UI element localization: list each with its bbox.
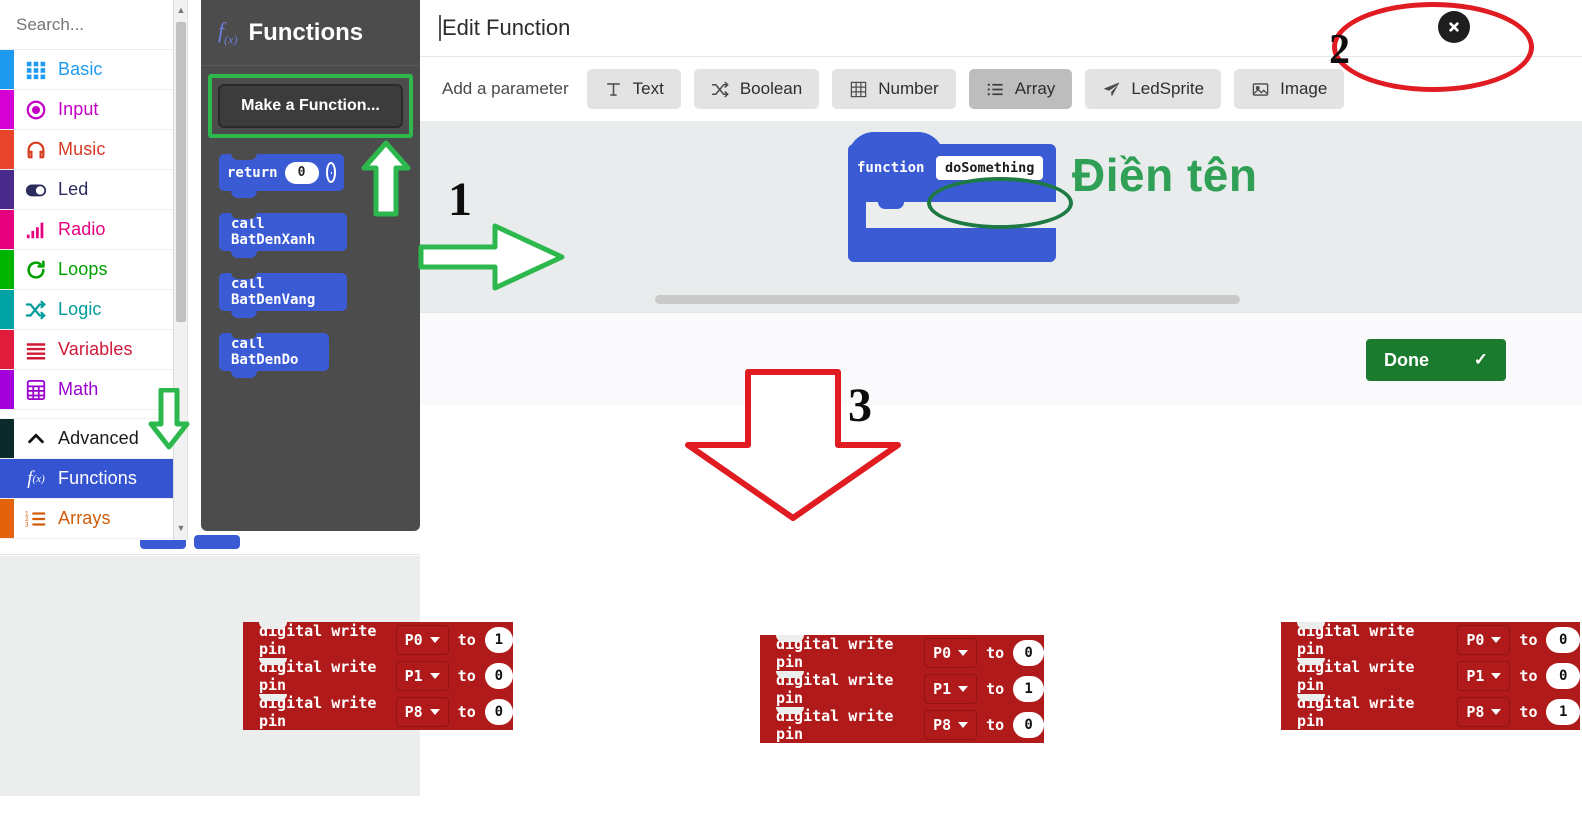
toggle-icon xyxy=(25,179,47,201)
value-field[interactable]: 0 xyxy=(1546,663,1580,689)
pin-dropdown-value: P1 xyxy=(405,667,423,685)
return-block-label: return xyxy=(227,165,278,181)
digital-write-pin-block[interactable]: digital write pinP0to0 xyxy=(1281,622,1580,658)
param-button-image[interactable]: Image xyxy=(1234,69,1344,109)
value-field[interactable]: 0 xyxy=(1013,712,1044,738)
digital-write-pin-block[interactable]: digital write pinP8to0 xyxy=(243,694,513,730)
sidebar-item-loops[interactable]: Loops xyxy=(0,250,187,290)
flyout-title: Functions xyxy=(248,19,363,47)
sidebar-item-label-advanced: Advanced xyxy=(58,428,139,449)
digital-write-pin-block[interactable]: digital write pinP1to1 xyxy=(760,671,1044,707)
param-button-label: Array xyxy=(1015,79,1056,99)
sidebar-item-label-basic: Basic xyxy=(58,59,103,80)
param-button-array[interactable]: Array xyxy=(969,69,1073,109)
sidebar-item-math[interactable]: Math xyxy=(0,370,187,410)
value-field[interactable]: 0 xyxy=(1546,627,1580,653)
statement-label: digital write pin xyxy=(1297,658,1448,694)
pin-dropdown[interactable]: P0 xyxy=(396,625,449,655)
calculator-icon xyxy=(25,379,47,401)
to-label: to xyxy=(1519,703,1537,721)
chevron-down-icon xyxy=(958,722,968,728)
toolbox-divider xyxy=(0,410,187,419)
digital-write-pin-block[interactable]: digital write pinP1to0 xyxy=(1281,658,1580,694)
list-icon xyxy=(986,80,1005,99)
annotation-ellipse-done xyxy=(1332,2,1534,92)
numbered-list-icon: 1 2 3 xyxy=(25,508,47,530)
category-color-swatch xyxy=(0,370,14,409)
statement-label: digital write pin xyxy=(259,658,387,694)
add-parameter-label: Add a parameter xyxy=(442,79,569,99)
sidebar-item-label-led: Led xyxy=(58,179,88,200)
flyout-header: f(x) Functions xyxy=(201,0,420,66)
category-color-swatch xyxy=(0,130,14,169)
done-button-label: Done xyxy=(1384,350,1429,371)
statement-label: digital write pin xyxy=(259,622,387,658)
chevron-down-icon xyxy=(1491,637,1501,643)
value-field[interactable]: 0 xyxy=(1013,640,1044,666)
toolbox-sidebar: BasicInputMusicLedRadioLoopsLogicVariabl… xyxy=(0,0,188,540)
pin-dropdown-value: P8 xyxy=(933,716,951,734)
return-block[interactable]: return 0 xyxy=(219,154,344,191)
chevron-up-icon xyxy=(25,428,47,450)
fx-icon: f(x) xyxy=(218,18,237,47)
pin-dropdown[interactable]: P1 xyxy=(396,661,449,691)
chevron-down-icon xyxy=(958,686,968,692)
svg-text:3: 3 xyxy=(25,521,29,528)
parameter-buttons: TextBooleanNumberArrayLedSpriteImage xyxy=(587,69,1345,109)
picture-icon xyxy=(1251,80,1270,99)
digital-write-pin-block[interactable]: digital write pinP0to1 xyxy=(243,622,513,658)
refresh-icon xyxy=(25,259,47,281)
pin-dropdown[interactable]: P8 xyxy=(924,710,977,740)
to-label: to xyxy=(986,680,1004,698)
done-button[interactable]: Done ✓ xyxy=(1366,339,1506,381)
to-label: to xyxy=(458,667,476,685)
chevron-down-icon xyxy=(958,650,968,656)
block-footer xyxy=(848,228,1056,262)
sidebar-item-led[interactable]: Led xyxy=(0,170,187,210)
param-button-label: Number xyxy=(878,79,938,99)
sidebar-item-radio[interactable]: Radio xyxy=(0,210,187,250)
grid-table-icon xyxy=(849,80,868,99)
param-button-label: LedSprite xyxy=(1131,79,1204,99)
sidebar-item-music[interactable]: Music xyxy=(0,130,187,170)
param-button-label: Text xyxy=(633,79,664,99)
param-button-label: Boolean xyxy=(740,79,802,99)
chevron-down-icon xyxy=(430,709,440,715)
check-icon: ✓ xyxy=(1474,350,1488,370)
sidebar-item-label-functions: Functions xyxy=(58,468,137,489)
dialog-footer: Done ✓ xyxy=(420,312,1582,405)
pin-dropdown-value: P0 xyxy=(405,631,423,649)
target-icon xyxy=(25,99,47,121)
sidebar-item-label-radio: Radio xyxy=(58,219,106,240)
category-color-swatch xyxy=(0,210,14,249)
pin-dropdown-value: P0 xyxy=(933,644,951,662)
fx-icon: f(x) xyxy=(25,468,47,490)
app-root: BasicInputMusicLedRadioLoopsLogicVariabl… xyxy=(0,0,1582,836)
sidebar-item-label-math: Math xyxy=(58,379,98,400)
category-color-swatch xyxy=(0,170,14,209)
sidebar-item-label-variables: Variables xyxy=(58,339,133,360)
toolbox-bottom-buttons xyxy=(0,541,440,555)
param-button-ledsprite[interactable]: LedSprite xyxy=(1085,69,1221,109)
statement-label: digital write pin xyxy=(1297,694,1448,730)
pin-dropdown-value: P1 xyxy=(933,680,951,698)
digital-write-pin-block[interactable]: digital write pinP8to0 xyxy=(760,707,1044,743)
signal-icon xyxy=(25,219,47,241)
dialog-title: Edit Function xyxy=(442,15,570,41)
to-label: to xyxy=(458,703,476,721)
pin-dropdown[interactable]: P8 xyxy=(1457,697,1510,727)
digital-write-pin-block[interactable]: digital write pinP8to1 xyxy=(1281,694,1580,730)
to-label: to xyxy=(1519,631,1537,649)
arrays-color-swatch xyxy=(0,499,14,538)
call-block-label: call BatDenXanh xyxy=(231,216,335,248)
param-button-boolean[interactable]: Boolean xyxy=(694,69,819,109)
toolbox-category-list: BasicInputMusicLedRadioLoopsLogicVariabl… xyxy=(0,50,187,410)
annotation-step-1: 1 xyxy=(448,172,472,227)
sidebar-item-functions[interactable]: f(x) Functions xyxy=(0,459,187,499)
to-label: to xyxy=(458,631,476,649)
function-keyword-label: function xyxy=(857,160,924,176)
call-block-batdendo[interactable]: call BatDenDo xyxy=(219,333,329,371)
category-color-swatch xyxy=(0,250,14,289)
call-block-label: call BatDenDo xyxy=(231,336,317,368)
category-color-swatch xyxy=(0,290,14,329)
value-field[interactable]: 0 xyxy=(485,663,513,689)
return-value-field[interactable]: 0 xyxy=(285,162,319,184)
to-label: to xyxy=(986,716,1004,734)
pin-dropdown[interactable]: P8 xyxy=(396,697,449,727)
pin-dropdown-value: P8 xyxy=(405,703,423,721)
pin-dropdown[interactable]: P0 xyxy=(924,638,977,668)
statement-label: digital write pin xyxy=(259,694,387,730)
call-block-batdenxanh[interactable]: call BatDenXanh xyxy=(219,213,347,251)
chevron-down-icon xyxy=(1491,673,1501,679)
call-block-label: call BatDenVang xyxy=(231,276,335,308)
chevron-down-icon xyxy=(430,637,440,643)
statement-label: digital write pin xyxy=(776,707,915,743)
category-color-swatch xyxy=(0,50,14,89)
make-function-highlight: Make a Function... xyxy=(208,74,413,138)
annotation-step-3: 3 xyxy=(848,378,872,433)
block-left-rail xyxy=(848,202,866,228)
to-label: to xyxy=(1519,667,1537,685)
digital-write-pin-block[interactable]: digital write pinP1to0 xyxy=(243,658,513,694)
sidebar-item-logic[interactable]: Logic xyxy=(0,290,187,330)
paper-plane-icon xyxy=(1102,80,1121,99)
bottom-button-2[interactable] xyxy=(194,535,240,549)
scroll-down-icon[interactable]: ▼ xyxy=(174,520,188,536)
advanced-color-swatch xyxy=(0,419,14,458)
sidebar-item-advanced[interactable]: Advanced xyxy=(0,419,187,459)
sidebar-item-input[interactable]: Input xyxy=(0,90,187,130)
functions-color-swatch xyxy=(0,459,14,498)
minus-circle-icon[interactable] xyxy=(326,162,336,183)
sidebar-item-label-music: Music xyxy=(58,139,106,160)
pin-dropdown-value: P1 xyxy=(1466,667,1484,685)
annotation-dien-ten: Điền tên xyxy=(1072,148,1257,202)
sidebar-item-label-arrays: Arrays xyxy=(58,508,111,529)
param-button-text[interactable]: Text xyxy=(587,69,681,109)
canvas-horizontal-scrollbar[interactable] xyxy=(655,295,1240,304)
statement-label: digital write pin xyxy=(776,635,915,671)
value-field[interactable]: 1 xyxy=(1013,676,1044,702)
lines-icon xyxy=(25,339,47,361)
sidebar-item-arrays[interactable]: 1 2 3 Arrays xyxy=(0,499,187,539)
scroll-up-icon[interactable]: ▲ xyxy=(174,2,188,18)
pin-dropdown-value: P8 xyxy=(1466,703,1484,721)
param-button-label: Image xyxy=(1280,79,1327,99)
sidebar-item-label-loops: Loops xyxy=(58,259,108,280)
pin-dropdown-value: P0 xyxy=(1466,631,1484,649)
category-color-swatch xyxy=(0,330,14,369)
chevron-down-icon xyxy=(430,673,440,679)
functions-flyout: f(x) Functions Make a Function... return… xyxy=(201,0,420,531)
pin-dropdown[interactable]: P1 xyxy=(924,674,977,704)
statement-label: digital write pin xyxy=(776,671,915,707)
chevron-down-icon xyxy=(1491,709,1501,715)
value-field[interactable]: 1 xyxy=(1546,699,1580,725)
category-color-swatch xyxy=(0,90,14,129)
shuffle-icon xyxy=(711,80,730,99)
sidebar-item-label-logic: Logic xyxy=(58,299,102,320)
shuffle-icon xyxy=(25,299,47,321)
headphones-icon xyxy=(25,139,47,161)
sidebar-item-variables[interactable]: Variables xyxy=(0,330,187,370)
toolbox-search-row[interactable] xyxy=(0,0,187,50)
value-field[interactable]: 0 xyxy=(485,699,513,725)
grid-icon xyxy=(25,59,47,81)
sidebar-item-basic[interactable]: Basic xyxy=(0,50,187,90)
digital-write-pin-block[interactable]: digital write pinP0to0 xyxy=(760,635,1044,671)
annotation-ellipse-function-name xyxy=(927,177,1073,229)
param-button-number[interactable]: Number xyxy=(832,69,955,109)
value-field[interactable]: 1 xyxy=(485,627,513,653)
pin-dropdown[interactable]: P0 xyxy=(1457,625,1510,655)
make-a-function-button[interactable]: Make a Function... xyxy=(218,84,403,128)
toolbox-scrollbar[interactable]: ▲ ▼ xyxy=(173,0,187,540)
statement-label: digital write pin xyxy=(1297,622,1448,658)
annotation-step-2: 2 xyxy=(1329,26,1350,74)
sidebar-item-label-input: Input xyxy=(58,99,99,120)
text-icon xyxy=(604,80,623,99)
pin-dropdown[interactable]: P1 xyxy=(1457,661,1510,691)
scrollbar-thumb[interactable] xyxy=(176,22,186,322)
call-block-batdenvang[interactable]: call BatDenVang xyxy=(219,273,347,311)
to-label: to xyxy=(986,644,1004,662)
